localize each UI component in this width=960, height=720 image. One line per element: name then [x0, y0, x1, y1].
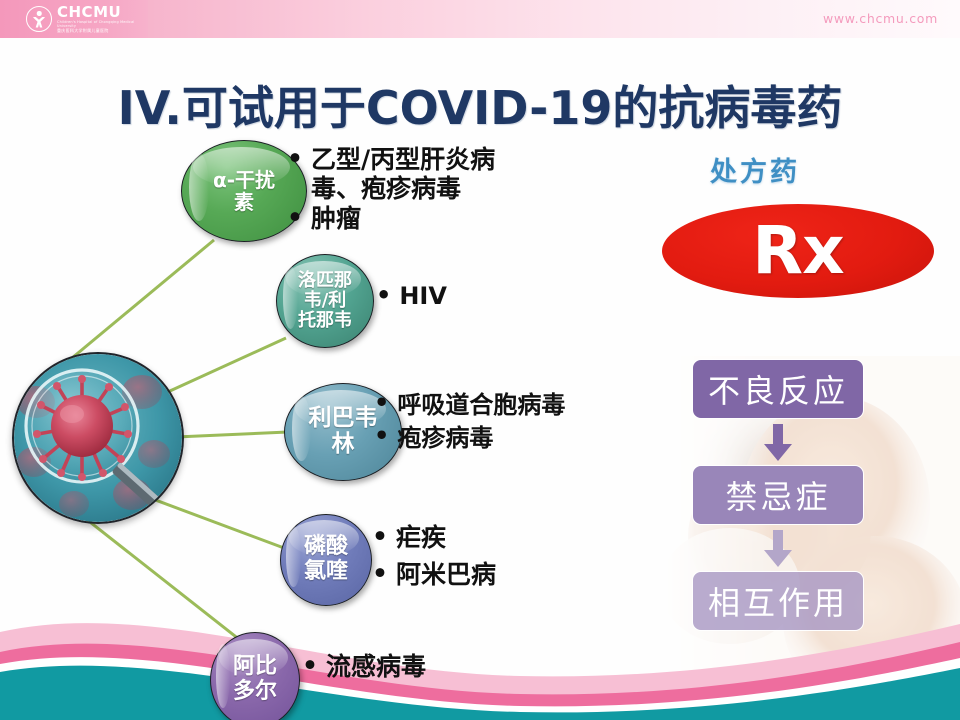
bullet-marker: • [372, 524, 388, 549]
flow-box-interaction[interactable]: 相互作用 [692, 571, 864, 631]
list-item-text: HIV [399, 283, 447, 310]
list-item: • HIV [376, 283, 447, 310]
bubble-line: 多尔 [233, 679, 277, 704]
child-figure-icon [26, 6, 52, 32]
drug-bubble-label: 阿比 多尔 [227, 655, 283, 704]
list-item: • 乙型/丙型肝炎病 毒、疱疹病毒 [287, 146, 495, 203]
drug-bubble-arbidol[interactable]: 阿比 多尔 [210, 632, 300, 720]
header-bar: CHCMU Children's Hospital of Chongqing M… [0, 0, 960, 38]
bubble-line: 阿比 [233, 654, 277, 679]
indication-list-ribavirin: • 呼吸道合胞病毒 • 疱疹病毒 [374, 391, 565, 458]
down-arrow-icon [763, 530, 793, 568]
drug-bubble-label: α-干扰 素 [207, 169, 281, 214]
indication-list-arbidol: • 流感病毒 [302, 653, 426, 682]
prescription-label: 处方药 [710, 150, 800, 189]
down-arrow-icon [763, 424, 793, 462]
list-item: • 流感病毒 [302, 653, 426, 682]
bubble-line: 洛匹那 [298, 270, 352, 291]
drug-bubble-label: 磷酸 氯喹 [298, 535, 354, 584]
logo-text-group: CHCMU Children's Hospital of Chongqing M… [57, 5, 148, 33]
list-item-text: 肿瘤 [311, 205, 361, 234]
bubble-line: 韦/利 [304, 290, 347, 311]
list-item-text: 阿米巴病 [396, 561, 496, 590]
list-item: • 呼吸道合胞病毒 [374, 391, 565, 418]
virus-magnifier-image [12, 352, 184, 524]
drug-bubble-label: 利巴韦 林 [303, 406, 384, 458]
indication-list-chloroquine-phosphate: • 疟疾 • 阿米巴病 [372, 524, 496, 597]
logo-name: CHCMU [57, 5, 148, 20]
drug-bubble-chloroquine-phosphate[interactable]: 磷酸 氯喹 [280, 514, 372, 606]
bubble-line: 利巴韦 [309, 405, 378, 431]
bubble-line: 素 [234, 190, 254, 214]
bullet-marker: • [287, 146, 303, 171]
brand-logo[interactable]: CHCMU Children's Hospital of Chongqing M… [0, 0, 148, 38]
drug-bubble-label: 洛匹那 韦/利 托那韦 [292, 271, 358, 331]
bullet-marker: • [376, 283, 391, 307]
slide-canvas: α-干扰 素 洛匹那 韦/利 托那韦 利巴韦 林 磷酸 氯喹 阿比 [0, 0, 960, 720]
bubble-line: α-干扰 [213, 168, 275, 192]
prescription-drug-graphic: 处方药 Rx [662, 146, 958, 326]
list-item-text: 疟疾 [396, 524, 446, 553]
bullet-marker: • [374, 391, 389, 415]
bullet-marker: • [302, 653, 318, 678]
bubble-line: 托那韦 [298, 310, 352, 331]
rx-symbol: Rx [752, 218, 843, 284]
list-item-text: 流感病毒 [326, 653, 426, 682]
list-item-text: 疱疹病毒 [397, 424, 493, 451]
list-item: • 疱疹病毒 [374, 424, 565, 451]
list-item-text: 乙型/丙型肝炎病 毒、疱疹病毒 [311, 146, 495, 203]
list-item: • 疟疾 [372, 524, 496, 553]
bullet-marker: • [372, 561, 388, 586]
list-item-text: 呼吸道合胞病毒 [397, 391, 565, 418]
drug-bubble-lopinavir-ritonavir[interactable]: 洛匹那 韦/利 托那韦 [276, 254, 374, 348]
bubble-line: 磷酸 [304, 534, 348, 559]
list-item: • 阿米巴病 [372, 561, 496, 590]
list-item: • 肿瘤 [287, 205, 495, 234]
bubble-line: 氯喹 [304, 559, 348, 584]
rx-oval: Rx [662, 204, 934, 298]
page-title: IV.可试用于COVID-19的抗病毒药 [0, 72, 960, 138]
indication-list-interferon: • 乙型/丙型肝炎病 毒、疱疹病毒 • 肿瘤 [287, 146, 495, 236]
bullet-marker: • [374, 424, 389, 448]
list-item-line: 毒、疱疹病毒 [311, 174, 461, 203]
flow-box-contraindication[interactable]: 禁忌症 [692, 465, 864, 525]
bullet-marker: • [287, 205, 303, 230]
flow-box-adverse-reaction[interactable]: 不良反应 [692, 359, 864, 419]
site-url[interactable]: www.chcmu.com [823, 11, 938, 26]
indication-list-lopinavir-ritonavir: • HIV [376, 283, 447, 310]
bubble-line: 林 [332, 431, 355, 457]
logo-subtitle-cn: 重庆医科大学附属儿童医院 [57, 29, 148, 33]
list-item-line: 乙型/丙型肝炎病 [311, 145, 495, 174]
